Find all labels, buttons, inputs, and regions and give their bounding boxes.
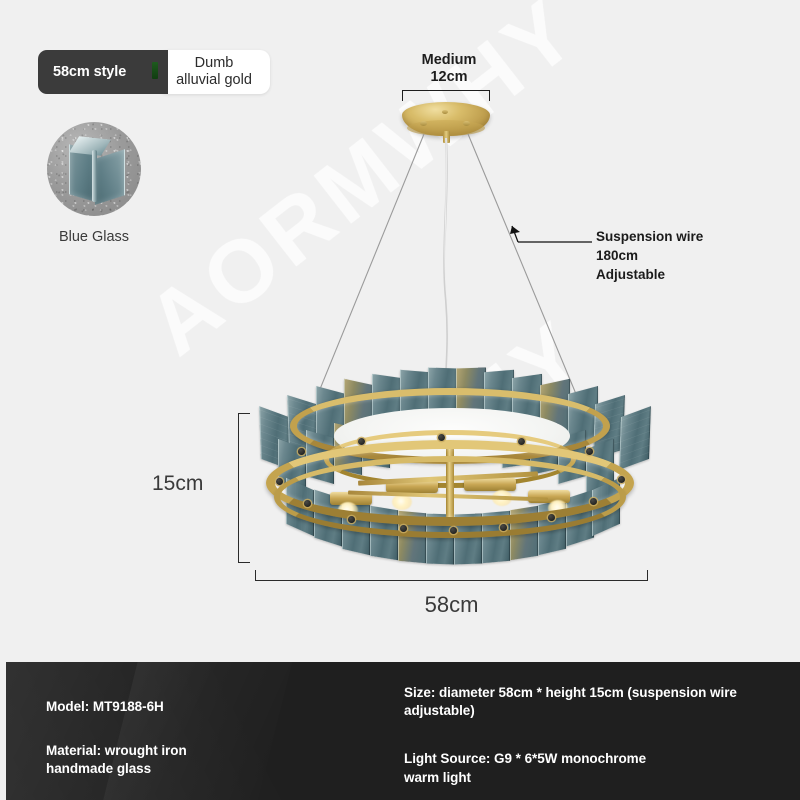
diameter-dimension-bracket xyxy=(255,570,648,581)
gold-ring-lower xyxy=(274,456,626,538)
diameter-dimension-label: 58cm xyxy=(255,592,648,618)
height-dimension-bracket xyxy=(238,413,250,563)
product-spec-image: AORMWHY HY 58cm style Dumb alluvial gold… xyxy=(0,0,800,800)
suspension-wire-annotation: Suspension wire 180cm Adjustable xyxy=(596,227,703,284)
suspension-leader-line xyxy=(510,226,592,242)
suspension-line3: Adjustable xyxy=(596,265,703,284)
suspension-line1: Suspension wire xyxy=(596,227,703,246)
height-dimension-label: 15cm xyxy=(152,472,203,496)
spec-column-right: Size: diameter 58cm * height 15cm (suspe… xyxy=(404,684,776,800)
spec-light-source: Light Source: G9 * 6*5W monochromewarm l… xyxy=(404,750,776,786)
spec-column-left: Model: MT9188-6H Material: wrought ironh… xyxy=(46,698,366,779)
spec-material: Material: wrought ironhandmade glass xyxy=(46,742,366,778)
spec-model: Model: MT9188-6H xyxy=(46,698,366,716)
suspension-line2: 180cm xyxy=(596,246,703,265)
spec-size: Size: diameter 58cm * height 15cm (suspe… xyxy=(404,684,776,720)
chandelier-fixture xyxy=(238,352,662,567)
spec-footer-panel: Model: MT9188-6H Material: wrought ironh… xyxy=(0,662,800,800)
footer-left-edge xyxy=(0,662,6,800)
